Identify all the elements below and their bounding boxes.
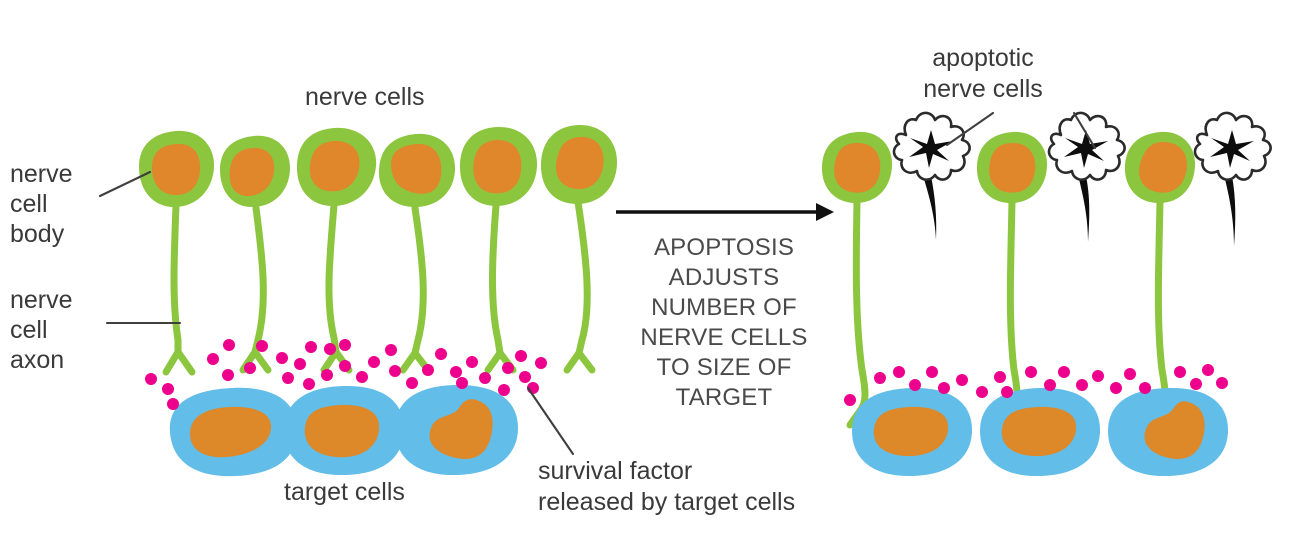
svg-text:TO SIZE OF: TO SIZE OF <box>657 354 792 381</box>
target-cell <box>980 388 1100 476</box>
svg-text:released by target cells: released by target cells <box>538 488 795 516</box>
right-panel-target-cells <box>852 388 1228 476</box>
svg-text:NERVE CELLS: NERVE CELLS <box>640 324 807 351</box>
apoptotic-cell <box>1195 113 1271 246</box>
label-nerve-cell-body: nerve cell body <box>10 160 73 248</box>
label-nerve-cell-axon: nerve cell axon <box>10 286 73 374</box>
nerve-cell <box>139 131 214 372</box>
svg-text:nerve cells: nerve cells <box>923 75 1043 103</box>
target-cell <box>1108 388 1228 476</box>
svg-text:cell: cell <box>10 190 48 218</box>
apoptotic-cell <box>894 113 970 240</box>
svg-text:NUMBER OF: NUMBER OF <box>651 294 797 321</box>
svg-text:nerve: nerve <box>10 160 73 188</box>
svg-text:TARGET: TARGET <box>676 384 773 411</box>
nerve-cell <box>379 134 455 370</box>
right-panel-apoptotic-cells <box>894 113 1271 246</box>
apoptosis-diagram: nerve cells nerve cell body nerve cell a… <box>0 0 1298 554</box>
nerve-cell <box>460 127 537 370</box>
svg-text:apoptotic: apoptotic <box>932 44 1033 72</box>
label-nerve-cells: nerve cells <box>305 83 425 111</box>
left-panel-nerve-cells <box>139 125 617 372</box>
target-cell <box>170 388 297 476</box>
label-target-cells: target cells <box>284 478 405 506</box>
center-caption: APOPTOSIS ADJUSTS NUMBER OF NERVE CELLS … <box>640 234 807 411</box>
nerve-cell <box>977 132 1047 425</box>
left-panel-target-cells <box>170 385 518 476</box>
nerve-cell <box>1125 132 1195 425</box>
target-cell <box>284 386 404 475</box>
label-survival-factor: survival factor released by target cells <box>538 457 795 516</box>
svg-text:cell: cell <box>10 316 48 344</box>
label-apoptotic-nerve-cells: apoptotic nerve cells <box>923 44 1043 103</box>
svg-text:axon: axon <box>10 346 64 374</box>
svg-text:nerve: nerve <box>10 286 73 314</box>
transition-arrow <box>616 203 834 221</box>
nerve-cell <box>297 128 376 370</box>
svg-text:ADJUSTS: ADJUSTS <box>669 264 780 291</box>
nerve-cell <box>220 136 290 370</box>
leader-survival-factor <box>528 388 573 454</box>
apoptotic-cell <box>1049 113 1125 242</box>
svg-text:body: body <box>10 220 65 248</box>
svg-text:survival factor: survival factor <box>538 457 692 485</box>
svg-text:APOPTOSIS: APOPTOSIS <box>654 234 794 261</box>
target-cell <box>395 385 518 475</box>
nerve-cell <box>541 125 617 370</box>
target-cell <box>852 388 972 476</box>
